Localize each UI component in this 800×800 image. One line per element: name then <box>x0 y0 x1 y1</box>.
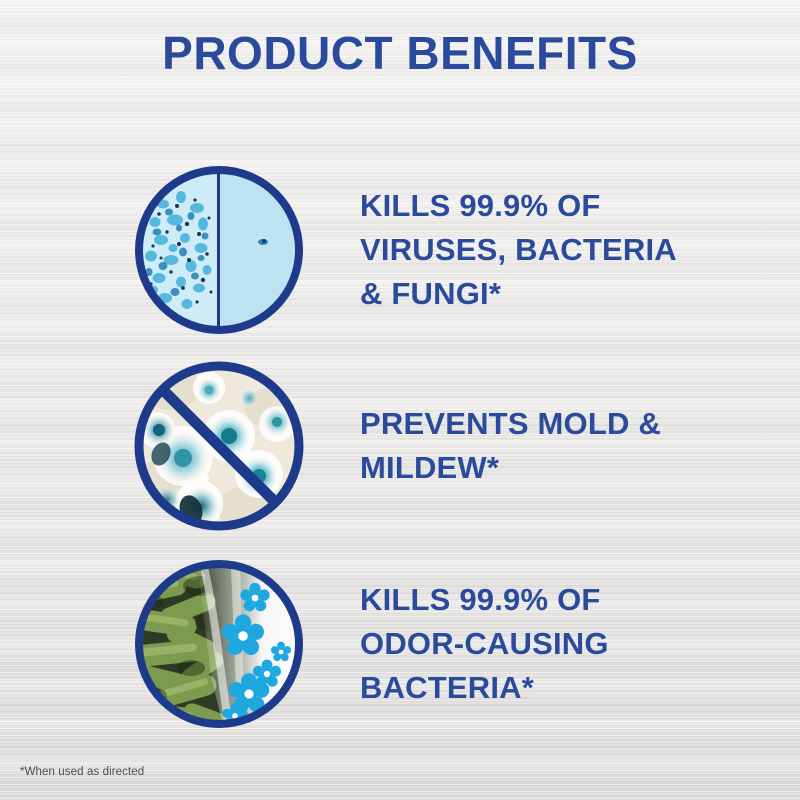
benefit-line: KILLS 99.9% OF <box>360 184 760 228</box>
petri-dish-split-icon <box>131 162 307 338</box>
odor-bacteria-to-fresh-icon <box>131 556 307 732</box>
benefit-row-kills-odor-bacteria: KILLS 99.9% OF ODOR-CAUSING BACTERIA* <box>0 556 800 736</box>
benefit-line: MILDEW* <box>360 446 760 490</box>
benefit-line: ODOR-CAUSING <box>360 622 760 666</box>
benefit-row-kills-germs: KILLS 99.9% OF VIRUSES, BACTERIA & FUNGI… <box>0 162 800 342</box>
benefit-row-prevents-mold: PREVENTS MOLD & MILDEW* <box>0 358 800 538</box>
benefit-line: BACTERIA* <box>360 666 760 710</box>
benefit-text-kills-germs: KILLS 99.9% OF VIRUSES, BACTERIA & FUNGI… <box>360 184 760 316</box>
product-benefits-poster: PRODUCT BENEFITS <box>0 0 800 800</box>
benefit-text-prevents-mold: PREVENTS MOLD & MILDEW* <box>360 402 760 490</box>
benefit-line: KILLS 99.9% OF <box>360 578 760 622</box>
benefit-text-kills-odor-bacteria: KILLS 99.9% OF ODOR-CAUSING BACTERIA* <box>360 578 760 710</box>
benefit-line: VIRUSES, BACTERIA <box>360 228 760 272</box>
no-mold-icon <box>131 358 307 534</box>
footnote-disclaimer: *When used as directed <box>20 766 144 778</box>
benefit-line: & FUNGI* <box>360 272 760 316</box>
page-title: PRODUCT BENEFITS <box>0 26 800 80</box>
benefit-line: PREVENTS MOLD & <box>360 402 760 446</box>
